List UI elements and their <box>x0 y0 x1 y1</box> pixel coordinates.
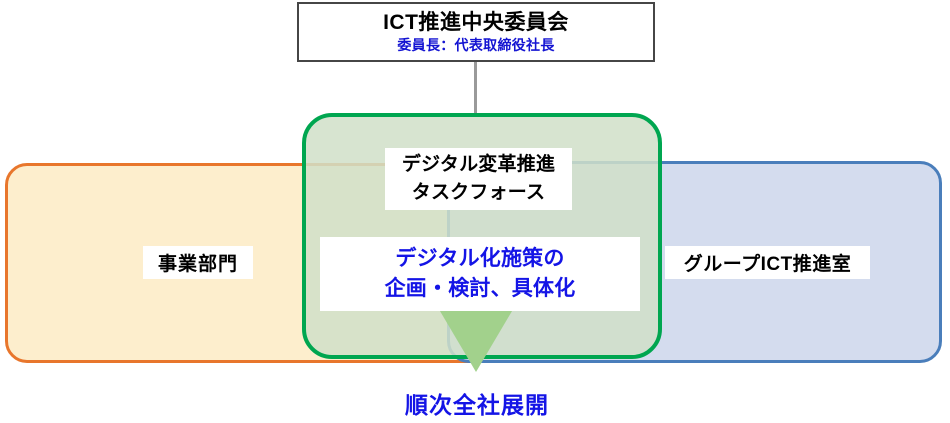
central-committee-box: ICT推進中央委員会 委員長：代表取締役社長 <box>297 2 655 62</box>
deployment-arrow-icon <box>437 306 515 372</box>
central-committee-title: ICT推進中央委員会 <box>383 11 569 35</box>
central-committee-subtitle: 委員長：代表取締役社長 <box>397 37 554 53</box>
digital-measures-plate: デジタル化施策の 企画・検討、具体化 <box>320 237 640 311</box>
group-ict-office-label: グループICT推進室 <box>665 246 870 279</box>
taskforce-label: デジタル変革推進 タスクフォース <box>385 148 572 210</box>
deployment-caption: 順次全社展開 <box>337 386 617 420</box>
committee-taskforce-connector <box>474 62 477 116</box>
taskforce-label-line2: タスクフォース <box>412 179 545 208</box>
taskforce-label-line1: デジタル変革推進 <box>402 151 555 180</box>
digital-measures-line2: 企画・検討、具体化 <box>385 274 576 304</box>
diagram-canvas: ICT推進中央委員会 委員長：代表取締役社長 事業部門 グループICT推進室 デ… <box>0 0 950 423</box>
digital-measures-line1: デジタル化施策の <box>395 244 564 274</box>
group-ict-office-label-text: グループICT推進室 <box>684 249 851 276</box>
business-division-label: 事業部門 <box>143 246 253 279</box>
business-division-label-text: 事業部門 <box>158 249 238 276</box>
